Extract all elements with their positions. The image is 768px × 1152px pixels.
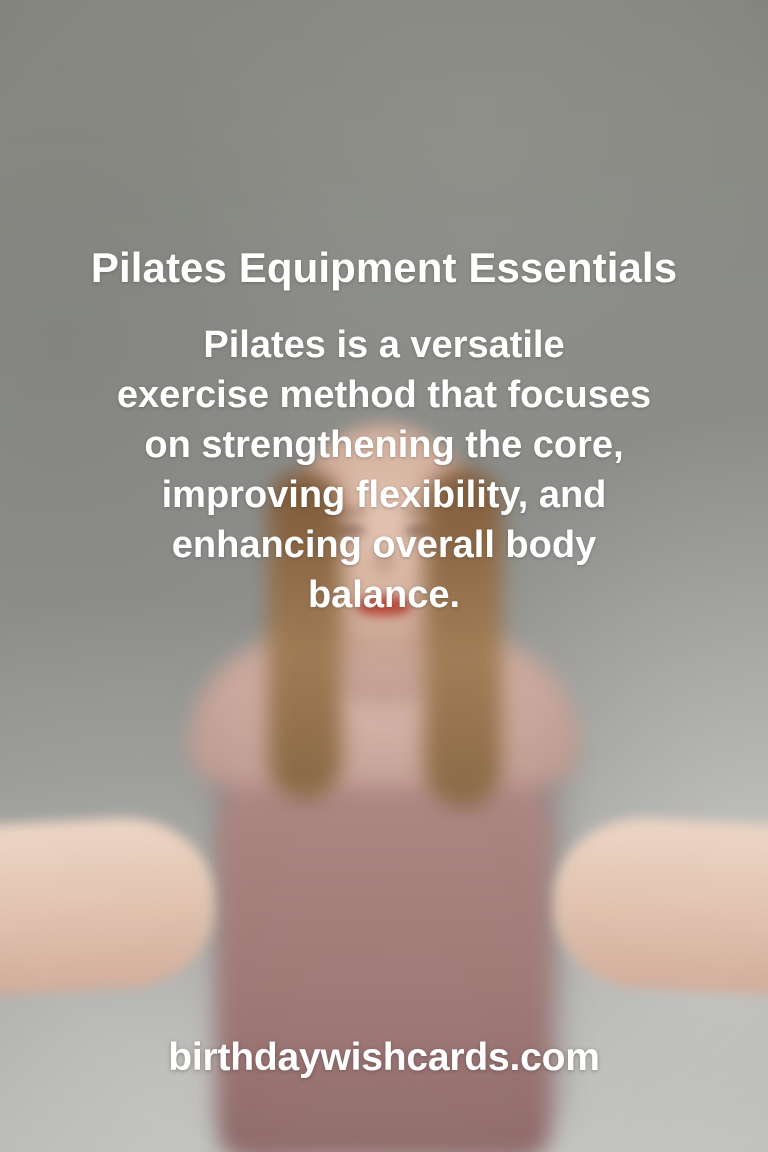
quote-line: on strengthening the core, <box>56 420 712 470</box>
quote-text: Pilates is a versatile exercise method t… <box>0 320 768 620</box>
quote-line: Pilates is a versatile <box>56 320 712 370</box>
pinterest-style-quote-card: Pilates Equipment Essentials Pilates is … <box>0 0 768 1152</box>
site-watermark: birthdaywishcards.com <box>0 1036 768 1080</box>
quote-line: balance. <box>56 570 712 620</box>
quote-line: enhancing overall body <box>56 520 712 570</box>
quote-line: improving flexibility, and <box>56 470 712 520</box>
page-title: Pilates Equipment Essentials <box>0 246 768 290</box>
text-overlay: Pilates Equipment Essentials Pilates is … <box>0 0 768 1152</box>
quote-line: exercise method that focuses <box>56 370 712 420</box>
